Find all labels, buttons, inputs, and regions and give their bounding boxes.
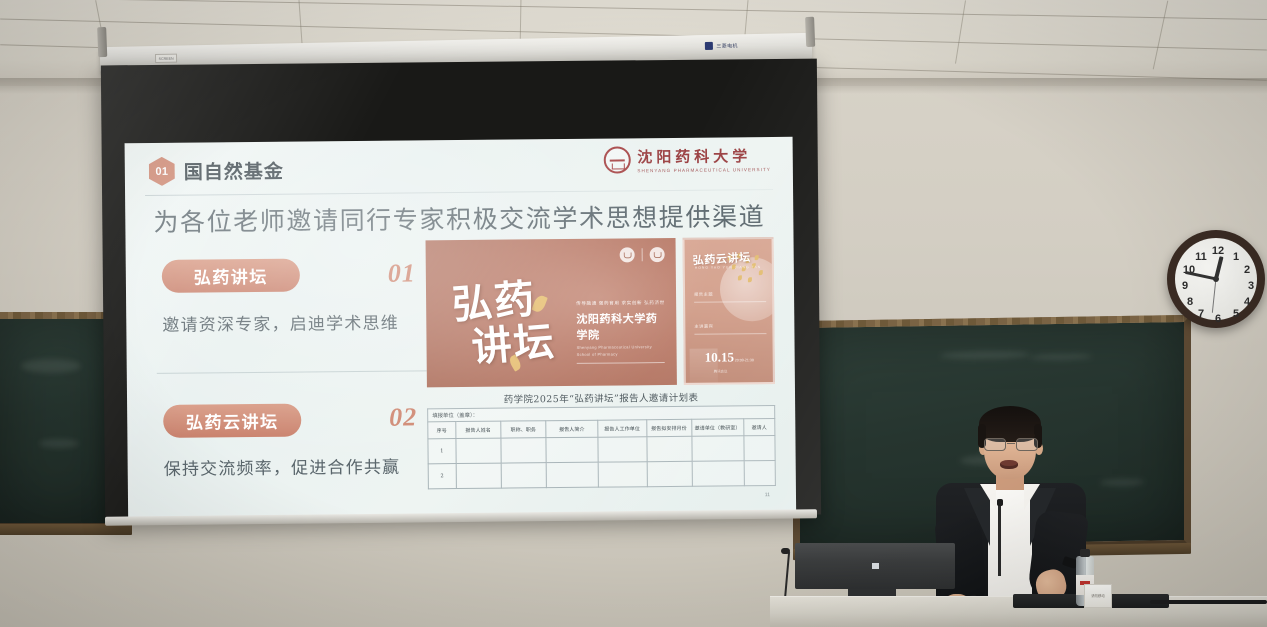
lecture-hall-scene: SCREEN 三菱电机 01 国自然基金 沈阳药科大学 SHENYANG PHA… bbox=[0, 0, 1267, 627]
section-badge: 01 bbox=[149, 157, 175, 186]
table-cell bbox=[647, 461, 692, 486]
board-frame-wear bbox=[0, 312, 117, 319]
desk-cable bbox=[1150, 600, 1267, 604]
roller-brand-label: 三菱电机 bbox=[716, 42, 738, 49]
table-cell: 2 bbox=[428, 464, 456, 489]
table-cell bbox=[692, 461, 744, 486]
equipment-notice-card: 请勿移动 bbox=[1084, 584, 1112, 608]
side-poster-pinyin: HONG YAO YUN JIANG TAN bbox=[695, 265, 761, 270]
wall-clock: 12 1 2 3 4 5 6 7 8 9 10 11 bbox=[1167, 230, 1265, 328]
table-cell bbox=[546, 437, 598, 462]
table-cell bbox=[598, 437, 647, 462]
table-cell: 1 bbox=[428, 439, 456, 464]
item-divider bbox=[157, 370, 427, 374]
presenter-brow-right bbox=[1018, 434, 1035, 437]
table-cell bbox=[598, 462, 647, 487]
table-header-cell: 职称、职务 bbox=[501, 421, 546, 438]
table-cell bbox=[501, 463, 546, 488]
item-number-2: 02 bbox=[389, 402, 417, 432]
table-cell bbox=[546, 462, 598, 487]
table-cell bbox=[744, 460, 775, 485]
header-divider bbox=[145, 189, 773, 196]
table-header-cell: 序号 bbox=[428, 422, 456, 439]
poster-org-cn: 沈阳药科大学药学院 bbox=[576, 310, 668, 343]
podium-monitor[interactable] bbox=[795, 543, 955, 589]
plan-table: 序号 报告人姓名 职称、职务 报告人简介 报告人工作单位 报告拟安排月份 邀请单… bbox=[427, 418, 776, 489]
poster-emblem-icon-1 bbox=[620, 247, 635, 262]
clock-numeral: 11 bbox=[1194, 251, 1208, 263]
table-header-cell: 报告人简介 bbox=[546, 420, 598, 437]
table-cell bbox=[456, 438, 501, 463]
item-pill-2: 弘药云讲坛 bbox=[163, 404, 301, 438]
projection-screen[interactable]: 01 国自然基金 沈阳药科大学 SHENYANG PHARMACEUTICAL … bbox=[101, 59, 821, 522]
notice-line-1: 请勿移动 bbox=[1091, 594, 1105, 599]
presentation-slide[interactable]: 01 国自然基金 沈阳药科大学 SHENYANG PHARMACEUTICAL … bbox=[125, 137, 797, 521]
table-row: 1 bbox=[428, 435, 775, 463]
table-header-cell: 邀请人 bbox=[743, 418, 774, 435]
item-description-2: 保持交流频率，促进合作共赢 bbox=[164, 453, 401, 480]
shirt-collar-left bbox=[980, 484, 996, 510]
clock-numeral: 8 bbox=[1183, 296, 1197, 308]
table-header-cell: 报告拟安排月份 bbox=[646, 419, 691, 436]
university-seal-icon bbox=[603, 146, 630, 173]
table-cell bbox=[647, 436, 692, 461]
university-logo: 沈阳药科大学 SHENYANG PHARMACEUTICAL UNIVERSIT… bbox=[603, 145, 771, 174]
presenter-mouth bbox=[1000, 460, 1018, 469]
clock-center-pin bbox=[1213, 276, 1219, 282]
side-poster-label-2: 主讲嘉宾 bbox=[694, 324, 713, 330]
bottle-cap bbox=[1080, 549, 1090, 557]
poster-org-en-1: Shenyang Pharmaceutical University bbox=[577, 344, 669, 350]
table-row: 2 bbox=[428, 460, 775, 488]
glasses-icon bbox=[983, 438, 1039, 451]
table-cell bbox=[501, 438, 546, 463]
side-poster-label-1: 报告主题 bbox=[694, 292, 713, 298]
side-poster-place: 腾讯会议 bbox=[714, 368, 728, 373]
monitor-logo-icon bbox=[872, 563, 879, 569]
clock-numeral: 2 bbox=[1240, 264, 1254, 276]
item-description-1: 邀请资深专家，启迪学术思维 bbox=[162, 309, 399, 336]
roller-brand: 三菱电机 bbox=[705, 41, 738, 50]
poster-emblem-icon-2 bbox=[650, 247, 665, 262]
clock-numeral: 7 bbox=[1194, 308, 1208, 320]
presenter-brow-left bbox=[986, 434, 1003, 437]
clock-second-hand bbox=[1212, 279, 1217, 313]
side-poster-time: 20:00-21:30 bbox=[735, 358, 754, 363]
clock-face: 12 1 2 3 4 5 6 7 8 9 10 11 bbox=[1175, 238, 1257, 320]
poster-image-side: 弘药云讲坛 HONG YAO YUN JIANG TAN 报告主题 主讲嘉宾 1… bbox=[683, 237, 775, 385]
clock-numeral: 12 bbox=[1211, 245, 1225, 257]
item-number-1: 01 bbox=[388, 258, 416, 288]
poster-underline bbox=[577, 362, 665, 364]
lapel-microphone-icon bbox=[998, 504, 1001, 576]
university-name-en: SHENYANG PHARMACEUTICAL UNIVERSITY bbox=[637, 167, 771, 173]
table-header-cell: 报告人工作单位 bbox=[598, 420, 647, 437]
brand-mark-icon bbox=[705, 42, 713, 50]
roller-tag-label: SCREEN bbox=[155, 54, 177, 63]
slide-page-number: 11 bbox=[765, 492, 770, 498]
poster-image-main: 弘药 讲坛 传导融通 强药育用 求实创新 弘药济世 沈阳药科大学药学院 Shen… bbox=[426, 238, 677, 387]
clock-numeral: 3 bbox=[1244, 280, 1258, 292]
side-poster-date: 10.15 bbox=[705, 349, 734, 365]
slide-header: 01 国自然基金 bbox=[149, 156, 284, 186]
table-header-cell: 报告人姓名 bbox=[456, 421, 501, 438]
poster-text-block: 传导融通 强药育用 求实创新 弘药济世 沈阳药科大学药学院 Shenyang P… bbox=[576, 300, 669, 364]
university-name-cn: 沈阳药科大学 bbox=[637, 145, 771, 167]
item-pill-1: 弘药讲坛 bbox=[162, 259, 300, 293]
poster-org-en-2: School of Pharmacy bbox=[577, 351, 669, 357]
clock-numeral: 9 bbox=[1178, 280, 1192, 292]
plan-table-wrapper: 填报单位（盖章）： 序号 报告人姓名 职称、职务 报告人简介 报告人工作单位 报… bbox=[427, 405, 776, 489]
calligraphy-line-2: 讲坛 bbox=[470, 319, 562, 370]
slide-subtitle: 为各位老师邀请同行专家积极交流学术思想提供渠道 bbox=[125, 197, 793, 239]
shirt-collar-right bbox=[1024, 484, 1040, 510]
presenter bbox=[930, 398, 1095, 627]
clock-numeral: 5 bbox=[1229, 308, 1243, 320]
microphone-head-icon bbox=[781, 548, 790, 554]
clock-numeral: 1 bbox=[1229, 251, 1243, 263]
roller-bracket-left bbox=[97, 27, 107, 57]
table-cell bbox=[456, 463, 501, 488]
poster-top-marks bbox=[620, 247, 665, 262]
roller-bracket-right bbox=[805, 17, 815, 47]
poster-calligraphy: 弘药 讲坛 bbox=[451, 276, 563, 382]
table-header-cell: 邀请单位（教研室） bbox=[691, 419, 743, 436]
poster-tagline: 传导融通 强药育用 求实创新 弘药济世 bbox=[576, 300, 668, 307]
clock-numeral: 6 bbox=[1211, 313, 1225, 325]
clock-numeral: 4 bbox=[1240, 296, 1254, 308]
table-cell bbox=[692, 436, 744, 461]
table-cell bbox=[744, 435, 775, 460]
plan-table-title: 药学院2025年“弘药讲坛”报告人邀请计划表 bbox=[427, 389, 775, 406]
slide-section-title: 国自然基金 bbox=[184, 157, 284, 185]
